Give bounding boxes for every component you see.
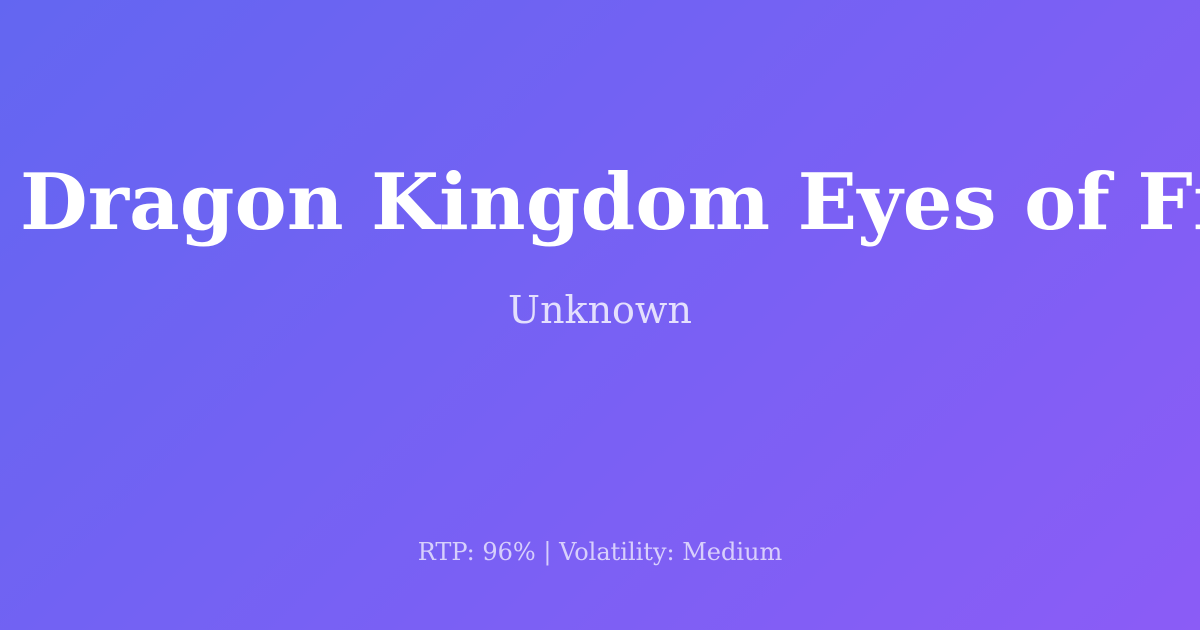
card-footer: RTP: 96% | Volatility: Medium [0,537,1200,630]
game-stats-line: RTP: 96% | Volatility: Medium [40,537,1160,568]
card-body: Dragon Kingdom Eyes of Fire Unknown [0,0,1200,537]
card-subtitle: Unknown [468,288,732,334]
page-title: Dragon Kingdom Eyes of Fire [0,161,1200,245]
og-share-card: Dragon Kingdom Eyes of Fire Unknown RTP:… [0,0,1200,630]
